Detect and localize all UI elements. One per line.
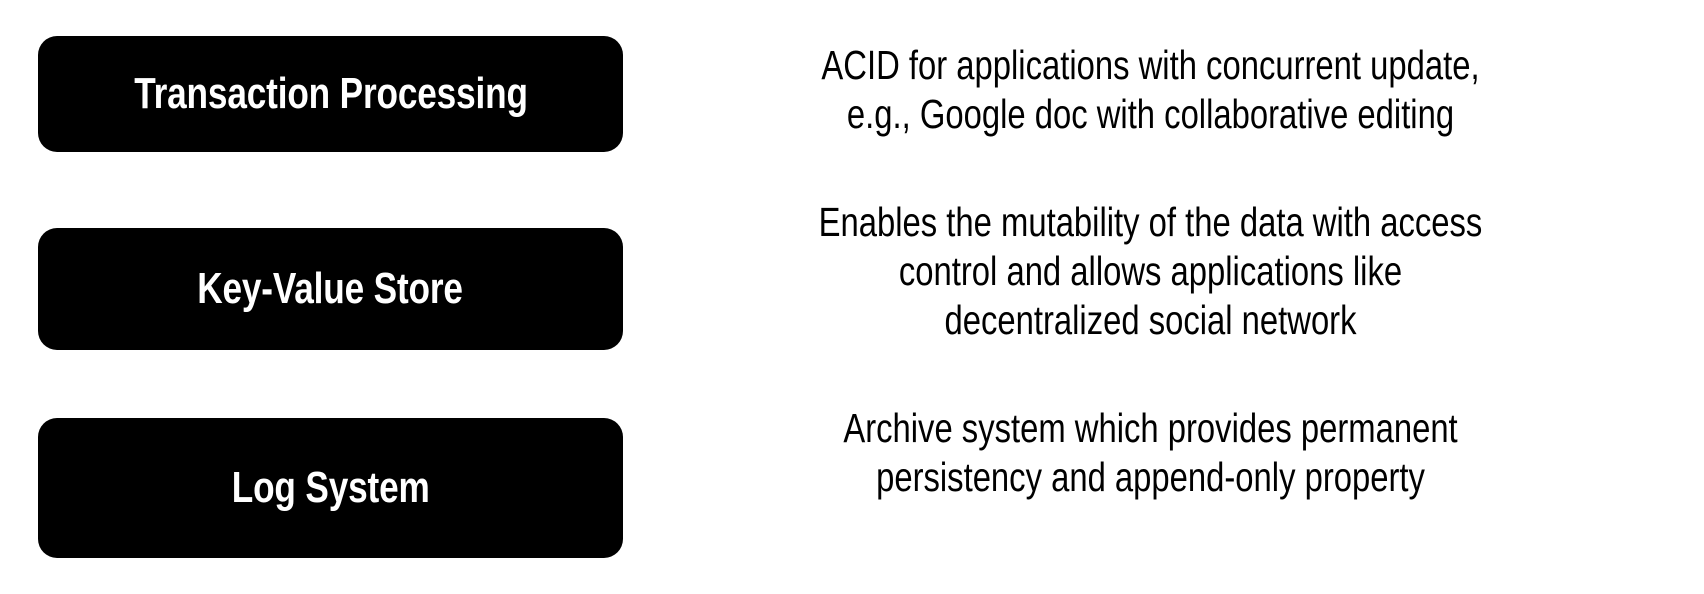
description-line-text: Enables the mutability of the data with …: [700, 198, 1600, 247]
concept-description-log-system: Archive system which provides permanent …: [700, 404, 1600, 502]
concept-box-transaction-processing[interactable]: Transaction Processing: [38, 36, 623, 152]
concept-box-key-value-store[interactable]: Key-Value Store: [38, 228, 623, 350]
description-line: Enables the mutability of the data with …: [700, 198, 1600, 247]
description-line: ACID for applications with concurrent up…: [700, 41, 1600, 90]
concept-box-label: Transaction Processing: [134, 71, 528, 117]
description-line-text: control and allows applications like: [700, 247, 1600, 296]
concept-box-label: Log System: [232, 465, 430, 511]
concept-box-log-system[interactable]: Log System: [38, 418, 623, 558]
description-line-text: decentralized social network: [700, 296, 1600, 345]
description-line-text: e.g., Google doc with collaborative edit…: [700, 90, 1600, 139]
description-line-text: Archive system which provides permanent: [700, 404, 1600, 453]
description-line: persistency and append-only property: [700, 453, 1600, 502]
description-line: control and allows applications like: [700, 247, 1600, 296]
concept-box-label: Key-Value Store: [198, 266, 464, 312]
description-line: e.g., Google doc with collaborative edit…: [700, 90, 1600, 139]
concept-description-transaction-processing: ACID for applications with concurrent up…: [700, 41, 1600, 139]
slide-canvas: Transaction Processing ACID for applicat…: [0, 0, 1704, 594]
description-line-text: ACID for applications with concurrent up…: [700, 41, 1600, 90]
description-line-text: persistency and append-only property: [700, 453, 1600, 502]
description-line: Archive system which provides permanent: [700, 404, 1600, 453]
concept-description-key-value-store: Enables the mutability of the data with …: [700, 198, 1600, 345]
description-line: decentralized social network: [700, 296, 1600, 345]
